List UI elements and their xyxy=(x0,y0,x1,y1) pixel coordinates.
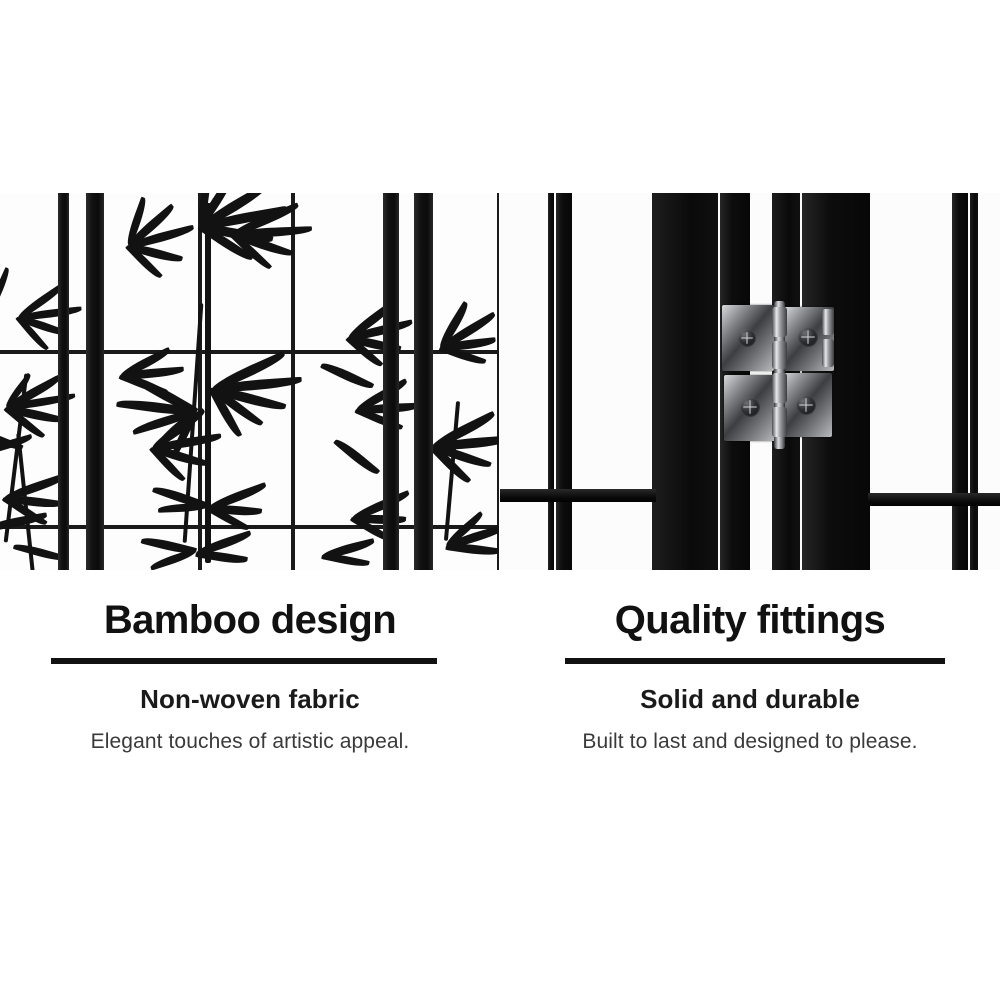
hinge-knuckle xyxy=(822,339,834,367)
feature-headline: Quality fittings xyxy=(500,596,1000,644)
screen-crossbar xyxy=(500,489,656,502)
hinge-screw xyxy=(738,329,756,347)
fabric-gridline-vertical xyxy=(497,193,499,570)
hinge-screw xyxy=(740,397,760,417)
screen-frame-post xyxy=(58,193,69,570)
screen-frame-post xyxy=(548,193,554,570)
feature-column-bamboo: Bamboo design Non-woven fabric Elegant t… xyxy=(0,570,500,1000)
headline-divider-rule xyxy=(51,658,437,664)
feature-headline: Bamboo design xyxy=(0,596,500,644)
bamboo-design-photo xyxy=(0,193,499,570)
product-feature-banner: Bamboo design Non-woven fabric Elegant t… xyxy=(0,0,1000,1000)
butt-hinge xyxy=(722,305,838,445)
fabric-gridline-vertical xyxy=(198,193,202,570)
screen-frame-post xyxy=(652,193,718,570)
hinge-knuckle xyxy=(772,407,787,437)
headline-divider-rule xyxy=(565,658,945,664)
feature-column-fittings: Quality fittings Solid and durable Built… xyxy=(500,570,1000,1000)
photo-strip xyxy=(0,193,1000,570)
screen-frame-post xyxy=(86,193,104,570)
feature-text-columns: Bamboo design Non-woven fabric Elegant t… xyxy=(0,570,1000,1000)
screen-frame-post xyxy=(383,193,399,570)
feature-subhead: Solid and durable xyxy=(500,682,1000,716)
hinge-knuckle xyxy=(772,307,787,337)
hinge-knuckle xyxy=(772,373,787,403)
feature-body-text: Elegant touches of artistic appeal. xyxy=(0,728,500,756)
hinge-knuckle xyxy=(772,341,787,369)
hinge-screw xyxy=(796,395,816,415)
screen-frame-post xyxy=(952,193,968,570)
hinge-screw xyxy=(798,327,818,347)
screen-crossbar xyxy=(868,493,1000,506)
screen-frame-post xyxy=(970,193,978,570)
screen-frame-post xyxy=(414,193,433,570)
hinge-knuckle xyxy=(822,309,834,335)
feature-subhead: Non-woven fabric xyxy=(0,682,500,716)
feature-body-text: Built to last and designed to please. xyxy=(500,728,1000,756)
quality-fittings-photo xyxy=(500,193,1000,570)
screen-frame-post xyxy=(556,193,572,570)
